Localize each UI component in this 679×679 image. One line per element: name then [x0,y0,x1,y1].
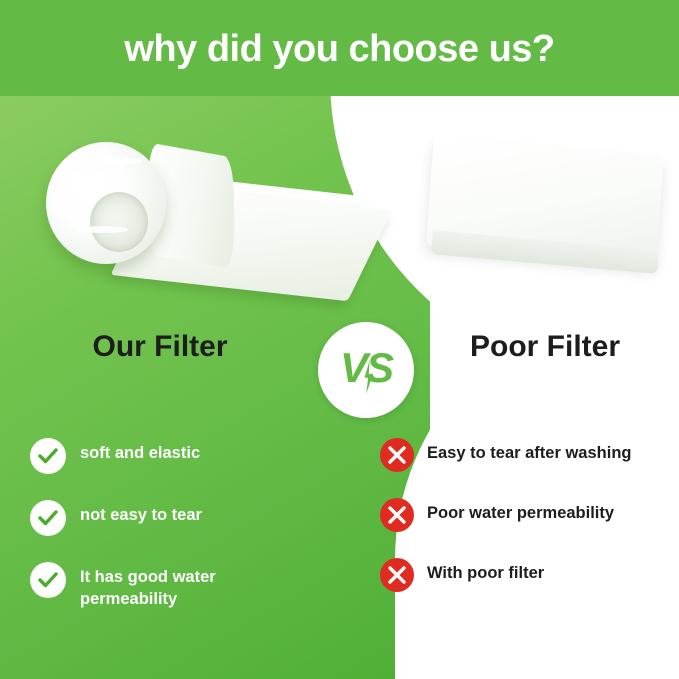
vs-badge: VS [318,322,414,418]
filter-roll-core [90,192,148,252]
vs-label: VS [318,344,414,392]
list-item-label: soft and elastic [80,438,200,464]
our-filter-title: Our Filter [30,330,290,364]
fiber-texture [104,158,142,164]
check-icon [30,500,66,536]
poor-filter-title: Poor Filter [420,330,670,364]
list-item-label: Poor water permeability [427,498,614,524]
list-item-label: not easy to tear [80,500,202,526]
fiber-texture [76,226,128,233]
list-item-label: With poor filter [427,558,544,584]
comparison-poster: why did you choose us? Our Filter Poor F… [0,0,679,679]
poor-filter-drawback-list: Easy to tear after washing Poor water pe… [380,438,670,618]
list-item: It has good water permeability [30,562,330,610]
list-item-label: Easy to tear after washing [427,438,632,464]
filter-roll-cylinder [46,142,166,264]
fiber-texture [64,172,108,180]
cross-icon [380,498,414,532]
check-icon [30,562,66,598]
our-filter-benefit-list: soft and elastic not easy to tear It has… [30,438,330,636]
list-item: Poor water permeability [380,498,670,532]
poor-filter-product-image [420,136,670,306]
header-band: why did you choose us? [0,0,679,96]
list-item: soft and elastic [30,438,330,474]
check-icon [30,438,66,474]
cross-icon [380,438,414,472]
list-item: With poor filter [380,558,670,592]
list-item-label: It has good water permeability [80,562,280,610]
our-filter-product-image [30,120,360,310]
list-item: not easy to tear [30,500,330,536]
list-item: Easy to tear after washing [380,438,670,472]
page-title: why did you choose us? [0,26,679,72]
cross-icon [380,558,414,592]
